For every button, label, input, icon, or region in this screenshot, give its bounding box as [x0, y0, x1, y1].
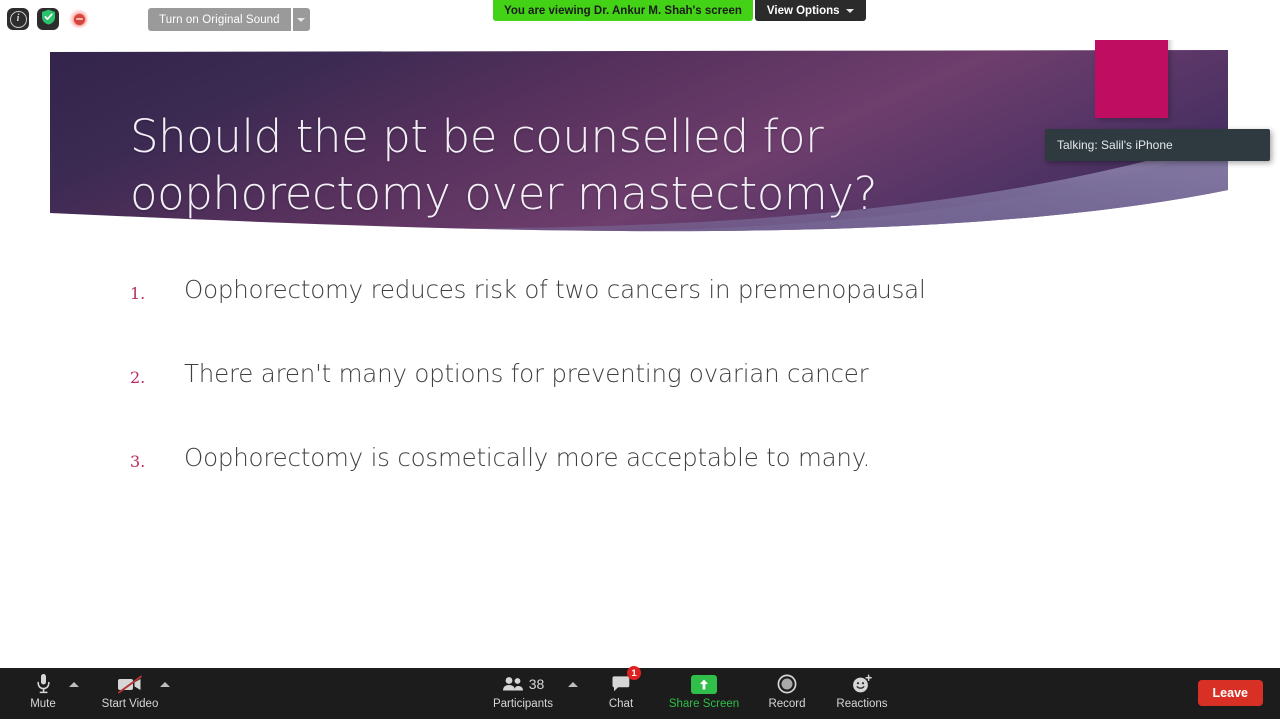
record-circle-icon: [777, 672, 797, 696]
share-screen-label: Share Screen: [669, 698, 739, 710]
camera-off-icon: [116, 672, 144, 696]
participants-icon: 38: [502, 672, 545, 696]
audio-options-button[interactable]: [66, 672, 82, 696]
share-screen-button[interactable]: Share Screen: [668, 672, 740, 716]
start-video-label: Start Video: [102, 698, 159, 710]
chevron-down-icon: [297, 18, 305, 22]
start-video-button[interactable]: Start Video: [94, 672, 166, 716]
recording-indicator-icon[interactable]: [69, 9, 89, 29]
chat-bubble-icon: 1: [611, 672, 631, 696]
share-screen-up-arrow-icon: [691, 672, 717, 696]
info-icon: i: [10, 11, 27, 28]
microphone-icon: [36, 672, 51, 696]
chevron-up-icon: [568, 682, 578, 687]
list-item: 1. Oophorectomy reduces risk of two canc…: [0, 275, 1280, 359]
list-item: 2. There aren't many options for prevent…: [0, 359, 1280, 443]
mute-label: Mute: [30, 698, 56, 710]
talking-indicator-tooltip: Talking: Salil's iPhone: [1045, 129, 1270, 161]
slide-bullet-list: 1. Oophorectomy reduces risk of two canc…: [0, 275, 1280, 527]
leave-button[interactable]: Leave: [1198, 680, 1263, 706]
chevron-down-icon: [846, 9, 854, 13]
encryption-shield-icon: [41, 9, 56, 30]
view-options-label: View Options: [767, 5, 840, 17]
slide-title: Should the pt be counselled for oophorec…: [130, 108, 1030, 222]
chat-unread-badge: 1: [627, 666, 641, 680]
bullet-number: 3.: [130, 452, 156, 471]
encryption-status-button[interactable]: [37, 8, 59, 30]
chat-label: Chat: [609, 698, 633, 710]
turn-on-original-sound-button[interactable]: Turn on Original Sound: [148, 8, 291, 31]
participants-button[interactable]: 38 Participants: [487, 672, 559, 716]
bullet-number: 2.: [130, 368, 156, 387]
reactions-smiley-icon: [851, 672, 873, 696]
record-button[interactable]: Record: [751, 672, 823, 716]
bullet-text: Oophorectomy is cosmetically more accept…: [184, 443, 870, 473]
zoom-meeting-toolbar: Mute Start Video 38 Participants: [0, 668, 1280, 719]
participants-options-button[interactable]: [565, 672, 581, 696]
meeting-info-button[interactable]: i: [7, 8, 29, 30]
viewing-screen-label: You are viewing Dr. Ankur M. Shah's scre…: [493, 0, 753, 21]
bullet-text: There aren't many options for preventing…: [184, 359, 868, 389]
participants-label: Participants: [493, 698, 553, 710]
bullet-number: 1.: [130, 284, 156, 303]
reactions-label: Reactions: [836, 698, 887, 710]
participants-count: 38: [529, 676, 545, 692]
chevron-up-icon: [69, 682, 79, 687]
original-sound-control[interactable]: Turn on Original Sound: [148, 8, 310, 31]
chat-button[interactable]: 1 Chat: [585, 672, 657, 716]
bullet-text: Oophorectomy reduces risk of two cancers…: [184, 275, 926, 305]
original-sound-dropdown-button[interactable]: [293, 8, 310, 31]
screen-share-banner: You are viewing Dr. Ankur M. Shah's scre…: [493, 0, 866, 21]
list-item: 3. Oophorectomy is cosmetically more acc…: [0, 443, 1280, 527]
record-label: Record: [768, 698, 805, 710]
reactions-button[interactable]: Reactions: [826, 672, 898, 716]
talking-indicator-text: Talking: Salil's iPhone: [1057, 138, 1173, 152]
view-options-button[interactable]: View Options: [755, 0, 866, 21]
chevron-up-icon: [160, 682, 170, 687]
video-options-button[interactable]: [157, 672, 173, 696]
